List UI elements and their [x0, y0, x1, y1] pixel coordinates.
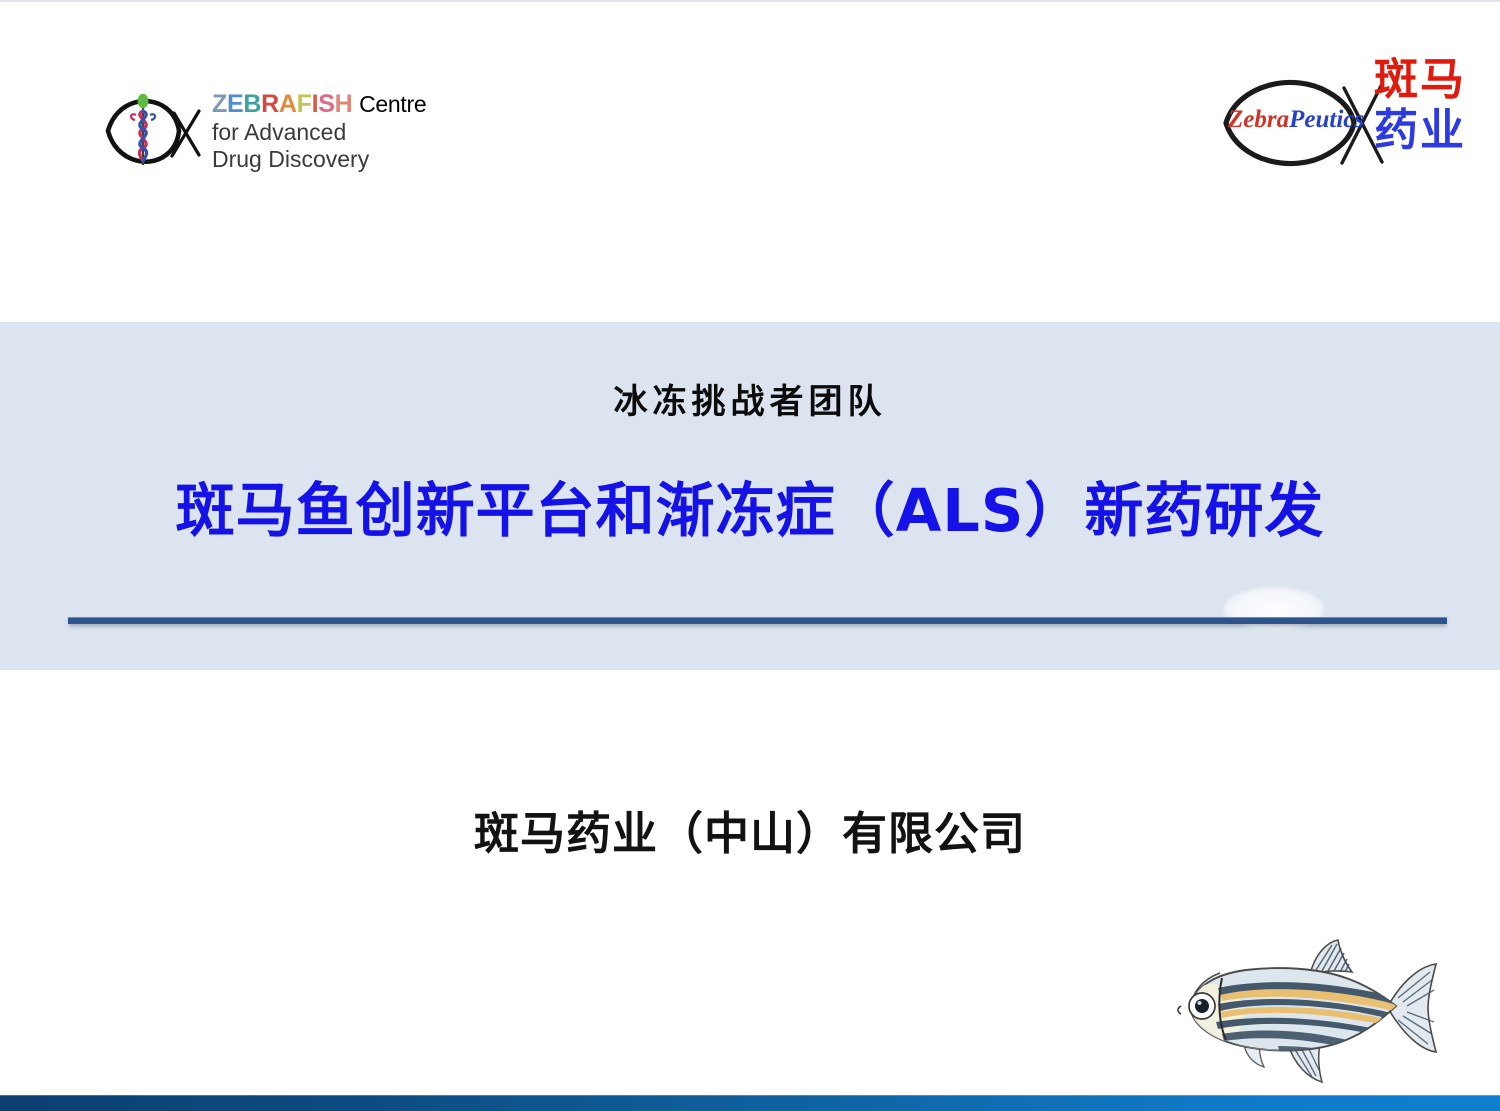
wordmark-letter: B	[243, 90, 261, 118]
zebrapeutics-logo: ZebraPeutics 斑马 药业	[1216, 54, 1472, 194]
zebrafish-centre-wordmark: ZEBRAFISH Centre for Advanced Drug Disco…	[212, 90, 426, 172]
zebrafish-illustration	[1160, 922, 1470, 1087]
wordmark-peutics: Peutics	[1289, 106, 1364, 133]
wordmark-zebra: Zebra	[1228, 106, 1289, 133]
wordmark-letter: Z	[212, 90, 227, 118]
wordmark-line-1: ZEBRAFISH Centre	[212, 90, 426, 119]
wordmark-letter: A	[279, 90, 297, 118]
chinese-name-bottom: 药业	[1374, 109, 1470, 154]
wordmark-letter: S	[318, 90, 334, 118]
wordmark-line-3: Drug Discovery	[212, 146, 426, 173]
wordmark-centre: Centre	[359, 91, 426, 117]
fish-caduceus-icon	[96, 77, 204, 185]
title-divider	[68, 617, 1447, 624]
wordmark-line-2: for Advanced	[212, 119, 426, 146]
zebrafish-centre-logo: ZEBRAFISH Centre for Advanced Drug Disco…	[96, 72, 426, 190]
wordmark-letter: E	[227, 90, 243, 118]
wordmark-letter: R	[261, 90, 279, 118]
team-name: 冰冻挑战者团队	[0, 374, 1500, 423]
wordmark-letter: F	[297, 90, 312, 118]
footer-accent-bar	[0, 1095, 1500, 1111]
chinese-name-top: 斑马	[1374, 58, 1470, 103]
slide-title: 斑马鱼创新平台和渐冻症（ALS）新药研发	[0, 463, 1500, 548]
wordmark-letter: H	[335, 90, 353, 118]
zebrapeutics-chinese-name: 斑马 药业	[1374, 58, 1470, 154]
zebrapeutics-wordmark: ZebraPeutics	[1228, 106, 1364, 134]
company-name: 斑马药业（中山）有限公司	[0, 797, 1500, 862]
wordmark-letters: ZEBRAFISH	[212, 90, 359, 118]
presentation-slide: ZEBRAFISH Centre for Advanced Drug Disco…	[0, 0, 1500, 1111]
